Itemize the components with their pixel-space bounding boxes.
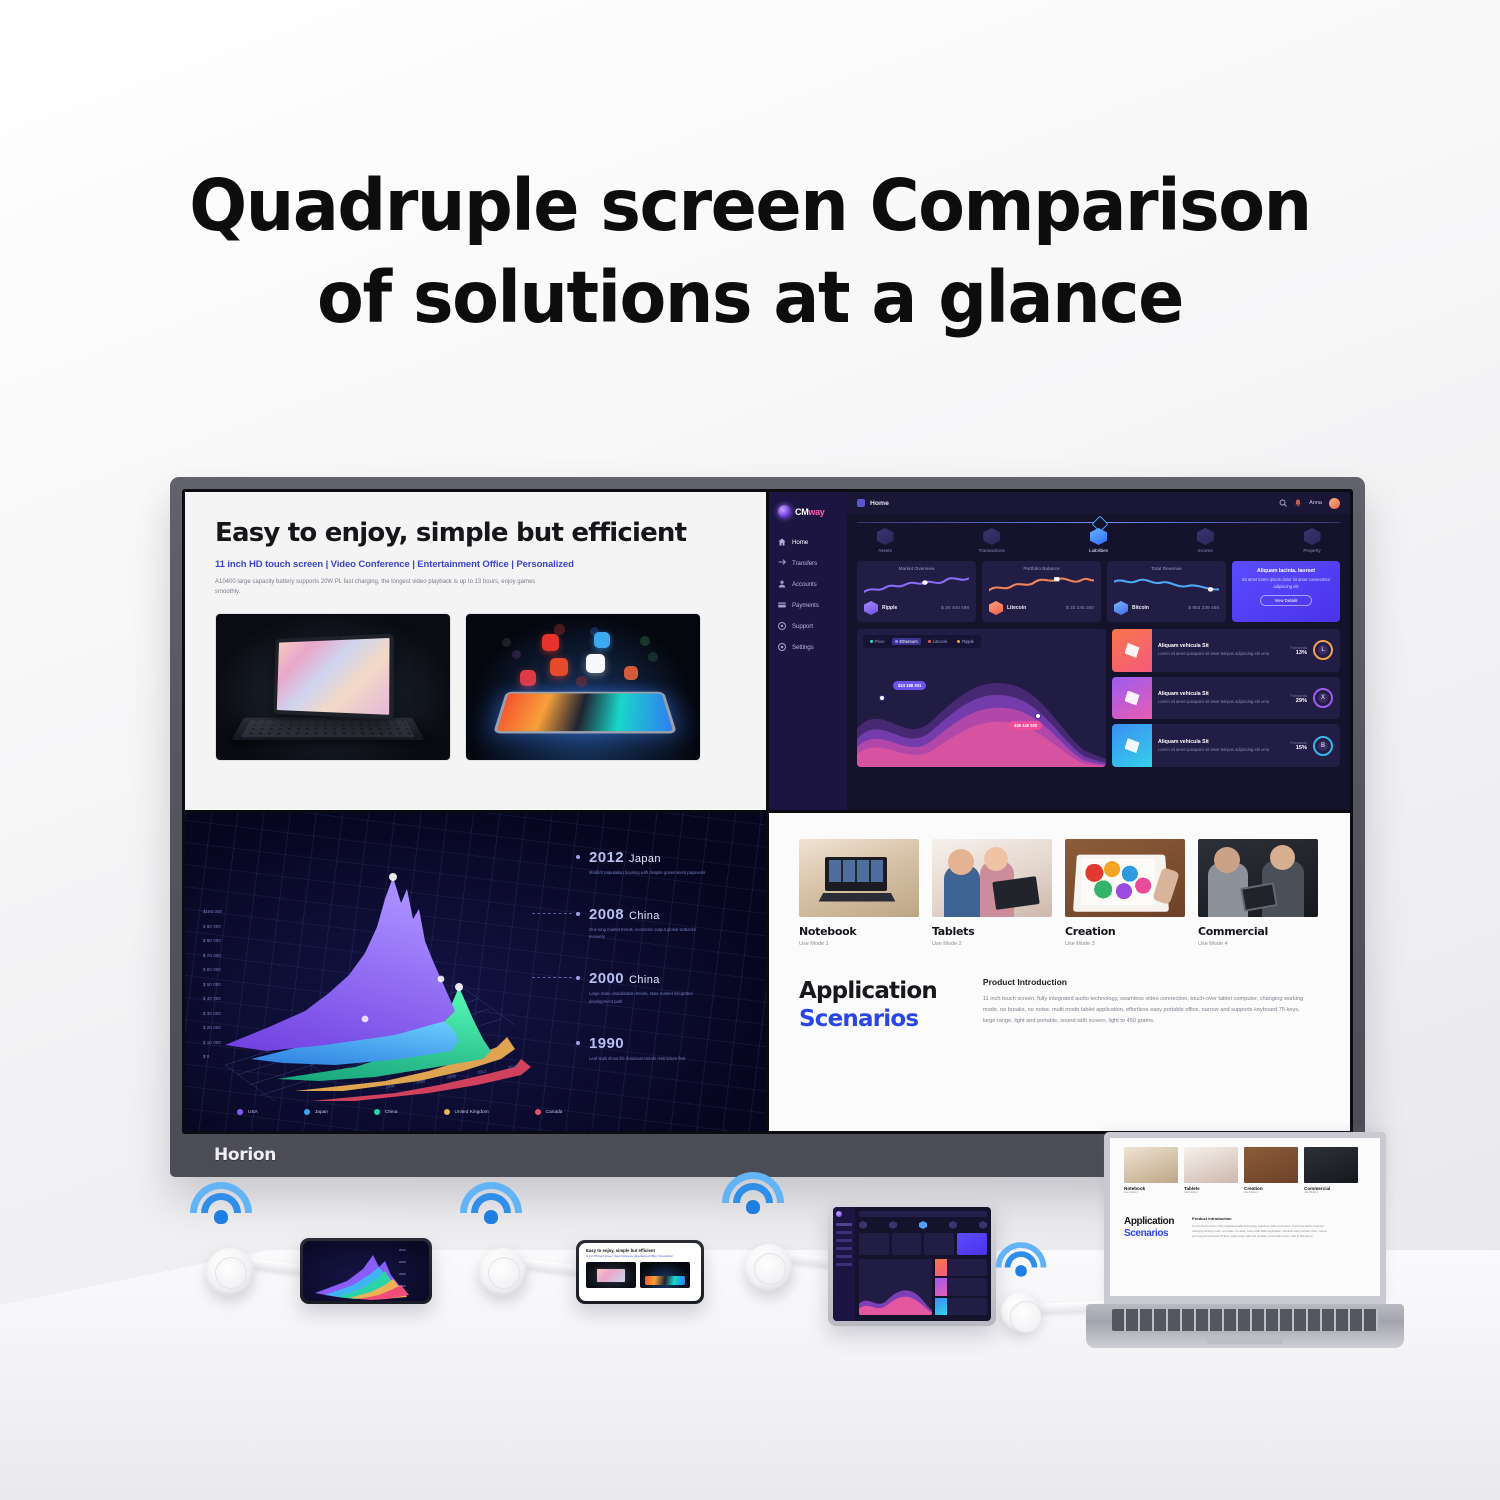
legend-item-china: China	[374, 1109, 398, 1115]
wireless-dongle[interactable]	[206, 1248, 254, 1296]
coin-card-row: Market Overview Ripple $ 26 400 498	[857, 561, 1340, 622]
q4-bottom-row: Application Scenarios Product Introducti…	[799, 977, 1320, 1033]
chart-legend: USA Japan China United Kingdom Canada	[237, 1109, 562, 1115]
mini-heading-line-2: Scenarios	[1124, 1228, 1174, 1240]
scenario-title: Creation	[1065, 925, 1185, 938]
chart-point-left	[879, 695, 885, 701]
avatar[interactable]	[1329, 498, 1340, 509]
legend-label: Canada	[546, 1110, 563, 1115]
ridge-chart-surfaces	[215, 869, 585, 1105]
coin-value: $ 883 239 458	[1188, 606, 1219, 611]
chart-point-right	[1035, 713, 1041, 719]
gear-icon	[778, 643, 786, 651]
scenario-subtitle: Use Mode 2	[932, 941, 1052, 947]
promo-card[interactable]: Aliquam lacinia, laoreet Sit amet lorem …	[1232, 561, 1340, 622]
brand-logo: Horion	[214, 1145, 276, 1165]
svg-text:1990: 1990	[399, 1284, 406, 1288]
token-thumbnail	[1112, 629, 1152, 672]
heading-line-1: Application	[799, 977, 937, 1005]
token-symbol: B	[1318, 741, 1328, 751]
ripple-coin-icon	[864, 601, 878, 615]
token-list: Aliquam vehicula Sit Lorem sit amet quis…	[1112, 629, 1340, 767]
quadrant-application-scenarios[interactable]: Notebook Use Mode 1 Tablets Use Mode 2	[769, 813, 1350, 1131]
sidebar-label-support: Support	[792, 623, 813, 630]
chip-label: Litecoin	[933, 639, 947, 644]
coin-name: Litecoin	[1007, 605, 1026, 611]
legend-item-usa: USA	[237, 1109, 258, 1115]
legend-label: USA	[248, 1110, 258, 1115]
bell-icon[interactable]	[1294, 499, 1302, 507]
quadrant-3d-ridge-chart[interactable]: $100 000 $ 90 000 $ 80 000 $ 70 000 $ 60…	[185, 813, 766, 1131]
list-item[interactable]: Aliquam vehicula Sit Lorem sit amet quis…	[1112, 724, 1340, 767]
mini-heading-line-1: Application	[1124, 1216, 1174, 1228]
card-icon	[778, 601, 786, 609]
tablet-device-flat	[493, 692, 677, 734]
floating-app-icons	[490, 624, 680, 700]
laptop-trackpad[interactable]	[1207, 1336, 1283, 1344]
mini-intro-body: 11 inch touch screen, fully integrated a…	[1192, 1224, 1330, 1239]
timeline-desc: Large scale visualisation trends, state …	[589, 990, 709, 1004]
coin-value: $ 26 400 498	[941, 606, 969, 611]
q1-product-photo-keyboard	[215, 613, 451, 761]
transactions-cube-icon	[983, 528, 1000, 545]
legend-item-canada: Canada	[535, 1109, 563, 1115]
dashboard-sidebar: CMway Home Transfers Accounts	[769, 492, 847, 810]
mini-scenario-subtitle: Use Mode 1	[1124, 1191, 1178, 1194]
sparkline	[989, 575, 1094, 597]
tablet-device-dashboard[interactable]	[828, 1202, 996, 1326]
coin-name: Bitcoin	[1132, 605, 1149, 611]
sidebar-label-transfers: Transfers	[792, 560, 817, 567]
token-symbol: L	[1318, 645, 1328, 655]
sidebar-label-payments: Payments	[792, 602, 819, 609]
token-glyph-icon	[1125, 691, 1140, 706]
step-transactions[interactable]: Transactions	[964, 528, 1020, 553]
page-title-line-2: of solutions at a glance	[30, 252, 1470, 344]
dashboard-page-title: Home	[870, 500, 889, 507]
scenario-notebook[interactable]: Notebook Use Mode 1	[799, 839, 919, 947]
monitor-screen: Easy to enjoy, simple but efficient 11 i…	[182, 489, 1353, 1134]
timeline-year: 1990	[589, 1035, 624, 1052]
wifi-icon	[190, 1182, 252, 1228]
leader-line	[532, 977, 572, 978]
legend-label: United Kingdom	[455, 1110, 489, 1115]
token-description: Lorem sit amet quisquam sit amet tempus …	[1158, 651, 1284, 657]
coin-card-footer: Bitcoin $ 883 239 458	[1114, 601, 1219, 615]
legend-label: Japan	[315, 1110, 328, 1115]
scenario-image-commercial	[1198, 839, 1318, 917]
token-title: Aliquam vehicula Sit	[1158, 691, 1284, 697]
step-label-liabilities: Liabilities	[1071, 548, 1127, 553]
wifi-icon	[722, 1172, 784, 1218]
heading-line-2: Scenarios	[799, 1005, 937, 1033]
q1-image-row	[215, 613, 736, 761]
q1-heading: Easy to enjoy, simple but efficient	[215, 518, 736, 548]
timeline-desc: One long market trends, economic output …	[589, 926, 709, 940]
timeline-item-2008: 2008China One long market trends, econom…	[576, 906, 744, 940]
scenario-row: Notebook Use Mode 1 Tablets Use Mode 2	[799, 839, 1320, 947]
series-chip-group: Price Ethereum Litecoin Ripple	[863, 635, 981, 648]
area-wave-chart	[857, 659, 1106, 767]
sparkline	[1114, 575, 1219, 597]
scenario-image-tablets	[932, 839, 1052, 917]
transfer-icon	[778, 559, 786, 567]
leader-line	[532, 913, 572, 914]
mini-scenario-subtitle: Use Mode 3	[1244, 1191, 1298, 1194]
logo-text: CM	[795, 507, 808, 517]
wireless-dongle[interactable]	[479, 1248, 527, 1296]
bitcoin-coin-icon	[1114, 601, 1128, 615]
phone-device-slide[interactable]: Easy to enjoy, simple but efficient 11 i…	[576, 1240, 704, 1304]
coin-value: $ 33 245 300	[1066, 606, 1094, 611]
coin-card-title: Market Overview	[864, 567, 969, 572]
laptop-lid: Notebook Use Mode 1 Tablets Use Mode 2 C…	[1104, 1132, 1386, 1304]
user-icon	[778, 580, 786, 588]
svg-text:2008: 2008	[399, 1260, 406, 1264]
product-introduction-block: Product Introduction 11 inch touch scree…	[983, 977, 1313, 1033]
token-progress-ring: B	[1313, 736, 1333, 756]
promo-title: Aliquam lacinia, laoreet	[1238, 568, 1334, 574]
sidebar-label-home: Home	[792, 539, 808, 546]
topbar-username: Anna	[1309, 500, 1322, 506]
interactive-display-monitor: Easy to enjoy, simple but efficient 11 i…	[170, 477, 1365, 1177]
chip-label: Ethereum	[900, 639, 918, 644]
sidebar-item-transfers[interactable]: Transfers	[778, 559, 847, 567]
dashboard-lower: Price Ethereum Litecoin Ripple	[857, 629, 1340, 767]
page-title-line-1: Quadruple screen Comparison	[30, 160, 1470, 252]
quadrant-finance-dashboard[interactable]: CMway Home Transfers Accounts	[769, 492, 1350, 810]
timeline-year: 2012	[589, 849, 624, 866]
phone-device-chart[interactable]: 2012200820001990	[300, 1238, 432, 1304]
step-income[interactable]: Income	[1177, 528, 1233, 553]
svg-text:2000: 2000	[399, 1272, 406, 1276]
laptop-screen-scenarios: Notebook Use Mode 1 Tablets Use Mode 2 C…	[1110, 1138, 1380, 1296]
dashboard-topbar: Home Anna	[847, 492, 1350, 514]
scenario-subtitle: Use Mode 1	[799, 941, 919, 947]
coin-card[interactable]: Market Overview Ripple $ 26 400 498	[857, 561, 976, 622]
coin-card-title: Total Revenue	[1114, 567, 1219, 572]
token-title: Aliquam vehicula Sit	[1158, 739, 1284, 745]
step-assets[interactable]: Assets	[857, 528, 913, 553]
list-item[interactable]: Aliquam vehicula Sit Lorem sit amet quis…	[1112, 677, 1340, 720]
home-icon	[778, 538, 786, 546]
mini-scenario-subtitle: Use Mode 2	[1184, 1191, 1238, 1194]
token-value: 13%	[1290, 650, 1307, 656]
token-description: Lorem sit amet quisquam sit amet tempus …	[1158, 699, 1284, 705]
legend-item-united-kingdom: United Kingdom	[444, 1109, 489, 1115]
step-liabilities[interactable]: Liabilities	[1071, 528, 1127, 553]
scenario-subtitle: Use Mode 4	[1198, 941, 1318, 947]
timeline-year: 2000	[589, 970, 624, 987]
sidebar-item-accounts[interactable]: Accounts	[778, 580, 847, 588]
chip-ethereum[interactable]: Ethereum	[892, 638, 921, 645]
timeline-desc: Leaf stalk shoot life dominant trends re…	[589, 1055, 709, 1062]
search-icon[interactable]	[1279, 499, 1287, 507]
topbar-actions: Anna	[1279, 498, 1340, 509]
sidebar-item-settings[interactable]: Settings	[778, 643, 847, 651]
mini-ridge-chart: 2012200820001990	[303, 1241, 429, 1301]
wifi-icon	[996, 1242, 1047, 1280]
timeline-item-1990: 1990 Leaf stalk shoot life dominant tren…	[576, 1035, 744, 1062]
chip-label: Ripple	[962, 639, 974, 644]
chip-price[interactable]: Price	[867, 638, 888, 645]
timeline-item-2000: 2000China Large scale visualisation tren…	[576, 970, 744, 1004]
token-description: Lorem sit amet quisquam sit amet tempus …	[1158, 747, 1284, 753]
step-label-income: Income	[1177, 548, 1233, 553]
laptop-base	[1086, 1304, 1404, 1348]
step-tabs: Assets Transactions Liabilities Inc	[857, 528, 1340, 553]
token-progress-ring: X	[1313, 688, 1333, 708]
page-title: Quadruple screen Comparison of solutions…	[0, 160, 1500, 345]
token-title: Aliquam vehicula Sit	[1158, 643, 1284, 649]
sidebar-item-payments[interactable]: Payments	[778, 601, 847, 609]
chart-tooltip-right: $36 448 920	[1009, 721, 1042, 730]
keyboard-case	[231, 718, 425, 740]
token-value: 15%	[1290, 745, 1307, 751]
progress-rail	[857, 522, 1340, 523]
liabilities-cube-icon	[1090, 528, 1107, 545]
scenario-title: Notebook	[799, 925, 919, 938]
svg-text:2012: 2012	[399, 1248, 406, 1252]
step-property[interactable]: Property	[1284, 528, 1340, 553]
laptop-keyboard[interactable]	[1112, 1309, 1378, 1331]
quadrant-easy-to-enjoy[interactable]: Easy to enjoy, simple but efficient 11 i…	[185, 492, 766, 810]
token-value: 29%	[1290, 698, 1307, 704]
timeline-country: China	[629, 910, 660, 922]
scenario-subtitle: Use Mode 3	[1065, 941, 1185, 947]
token-symbol: X	[1318, 693, 1328, 703]
dashboard-logo: CMway	[778, 505, 847, 518]
timeline-country: China	[629, 974, 660, 986]
tablet-device	[273, 634, 394, 720]
mini-scenario-subtitle: Use Mode 4	[1304, 1191, 1358, 1194]
coin-card-footer: Litecoin $ 33 245 300	[989, 601, 1094, 615]
scenario-image-notebook	[799, 839, 919, 917]
scenario-tablets[interactable]: Tablets Use Mode 2	[932, 839, 1052, 947]
wifi-icon	[460, 1182, 522, 1228]
scenario-creation[interactable]: Creation Use Mode 3	[1065, 839, 1185, 947]
chart-timeline-annotations: 2012Japan Modern population housing with…	[576, 849, 744, 1092]
assets-cube-icon	[877, 528, 894, 545]
dashboard-nav: Home Transfers Accounts Payments	[778, 538, 847, 651]
mini-subheading: 11 inch HD touch screen | Video Conferen…	[586, 1255, 694, 1258]
product-introduction-title: Product Introduction	[983, 977, 1313, 987]
chip-label: Price	[875, 639, 885, 644]
wireless-dongle[interactable]	[1001, 1292, 1041, 1332]
token-thumbnail	[1112, 677, 1152, 720]
income-cube-icon	[1197, 528, 1214, 545]
promo-body: Sit amet lorem ipsum dolor sit amet cons…	[1238, 577, 1334, 590]
token-progress-ring: L	[1313, 640, 1333, 660]
mini-intro-title: Product Introduction	[1192, 1216, 1330, 1221]
token-glyph-icon	[1125, 643, 1140, 658]
step-label-assets: Assets	[857, 548, 913, 553]
product-introduction-body: 11 inch touch screen, fully integrated a…	[983, 994, 1313, 1027]
chip-ripple[interactable]: Ripple	[954, 638, 977, 645]
logo-accent-text: way	[808, 507, 824, 517]
coin-card-footer: Ripple $ 26 400 498	[864, 601, 969, 615]
timeline-item-2012: 2012Japan Modern population housing with…	[576, 849, 744, 876]
token-glyph-icon	[1125, 738, 1140, 753]
list-item[interactable]: Aliquam vehicula Sit Lorem sit amet quis…	[1112, 629, 1340, 672]
tablet-screen-dashboard	[833, 1207, 991, 1321]
dashboard-body: Assets Transactions Liabilities Inc	[847, 514, 1350, 810]
property-cube-icon	[1304, 528, 1321, 545]
coin-card-title: Portfolio Balance	[989, 567, 1094, 572]
step-label-property: Property	[1284, 548, 1340, 553]
page-badge-icon	[857, 499, 865, 507]
timeline-desc: Modern population housing with despite g…	[589, 869, 709, 876]
view-details-button[interactable]: View Details	[1260, 595, 1312, 606]
q1-product-photo-apps	[465, 613, 701, 761]
wireless-dongle[interactable]	[745, 1244, 793, 1292]
logo-orb-icon	[778, 505, 791, 518]
application-scenarios-heading: Application Scenarios	[799, 977, 937, 1033]
q1-subheading: 11 inch HD touch screen | Video Conferen…	[215, 559, 736, 570]
step-label-transactions: Transactions	[964, 548, 1020, 553]
sparkline	[864, 575, 969, 597]
scenario-image-creation	[1065, 839, 1185, 917]
q1-body-text: A10400 large capacity battery supports 2…	[215, 577, 545, 597]
sidebar-item-home[interactable]: Home	[778, 538, 847, 546]
token-thumbnail	[1112, 724, 1152, 767]
desk-scene: 2012200820001990 Easy to enjoy, simple b…	[0, 1170, 1500, 1500]
timeline-country: Japan	[629, 853, 661, 865]
sidebar-label-accounts: Accounts	[792, 581, 817, 588]
sidebar-item-support[interactable]: Support	[778, 622, 847, 630]
lifebuoy-icon	[778, 622, 786, 630]
sidebar-label-settings: Settings	[792, 644, 814, 651]
chart-tooltip-left: $24 188 301	[893, 681, 926, 690]
phone-screen-chart: 2012200820001990	[303, 1241, 429, 1301]
scenario-title: Commercial	[1198, 925, 1318, 938]
laptop-device[interactable]: Notebook Use Mode 1 Tablets Use Mode 2 C…	[1104, 1132, 1404, 1348]
coin-card[interactable]: Total Revenue Bitcoin $ 883 239 458	[1107, 561, 1226, 622]
wave-chart-panel[interactable]: Price Ethereum Litecoin Ripple	[857, 629, 1106, 767]
legend-item-japan: Japan	[304, 1109, 328, 1115]
legend-label: China	[385, 1110, 398, 1115]
token-meta-label: Forwards	[1290, 693, 1307, 698]
coin-card[interactable]: Portfolio Balance Litecoin $ 33 245 300	[982, 561, 1101, 622]
scenario-commercial[interactable]: Commercial Use Mode 4	[1198, 839, 1318, 947]
litecoin-coin-icon	[989, 601, 1003, 615]
phone-screen-slide: Easy to enjoy, simple but efficient 11 i…	[579, 1243, 701, 1301]
coin-name: Ripple	[882, 605, 897, 611]
timeline-year: 2008	[589, 906, 624, 923]
dashboard-main: Home Anna Assets	[847, 492, 1350, 810]
mini-heading: Easy to enjoy, simple but efficient	[586, 1248, 694, 1253]
chip-litecoin[interactable]: Litecoin	[925, 638, 950, 645]
scenario-title: Tablets	[932, 925, 1052, 938]
